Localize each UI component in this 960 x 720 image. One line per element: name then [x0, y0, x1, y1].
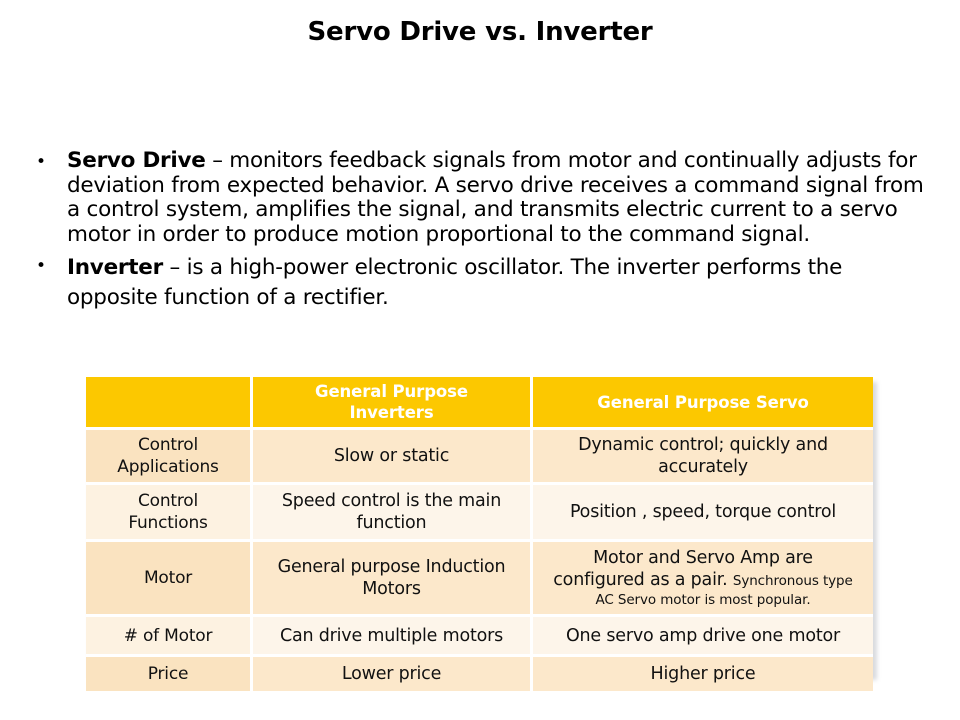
list-item: • Servo Drive – monitors feedback signal… [36, 149, 932, 247]
bullet-text: Servo Drive – monitors feedback signals … [67, 149, 932, 247]
bullet-term: Servo Drive [67, 148, 206, 173]
cell-line-1: Position , speed, torque control [533, 501, 873, 523]
bullet-list: • Servo Drive – monitors feedback signal… [36, 149, 932, 313]
cell-note-1: Synchronous type [733, 573, 853, 589]
bullet-term: Inverter [67, 255, 163, 280]
cell-servo: Higher price [533, 657, 873, 691]
table-row: Price Lower price Higher price [86, 657, 873, 691]
cell-line-2: Motors [253, 578, 530, 600]
bullet-marker-icon: • [36, 149, 67, 174]
cell-line-1: Motor and Servo Amp are [533, 547, 873, 569]
cell-line-1: Speed control is the main [253, 490, 530, 512]
cell-line-1: One servo amp drive one motor [533, 625, 873, 647]
table-row: Motor General purpose Induction Motors M… [86, 542, 873, 617]
cell-line-1: Dynamic control; quickly and [533, 434, 873, 456]
label-line-1: Control [86, 434, 250, 456]
label-line-2: Applications [86, 456, 250, 478]
page-title: Servo Drive vs. Inverter [0, 17, 960, 47]
label-line-1: Price [86, 663, 250, 685]
cell-inverter: Speed control is the main function [253, 485, 533, 542]
comparison-table-container: General Purpose Inverters General Purpos… [86, 377, 873, 691]
bullet-description: – is a high-power electronic oscillator.… [67, 255, 842, 310]
label-line-1: # of Motor [86, 625, 250, 647]
cell-line-2: function [253, 512, 530, 534]
slide-canvas: Servo Drive vs. Inverter • Servo Drive –… [0, 0, 960, 720]
table-row: # of Motor Can drive multiple motors One… [86, 617, 873, 657]
cell-inverter: General purpose Induction Motors [253, 542, 533, 617]
cell-line-1: Lower price [253, 663, 530, 685]
cell-inverter: Slow or static [253, 430, 533, 485]
label-line-1: Motor [86, 567, 250, 589]
column-header-servo: General Purpose Servo [533, 377, 873, 430]
cell-servo: One servo amp drive one motor [533, 617, 873, 657]
cell-inverter: Can drive multiple motors [253, 617, 533, 657]
table-row: Control Functions Speed control is the m… [86, 485, 873, 542]
row-label: Control Functions [86, 485, 253, 542]
label-line-1: Control [86, 490, 250, 512]
header-line-2: Inverters [253, 402, 530, 423]
table-row: Control Applications Slow or static Dyna… [86, 430, 873, 485]
header-line-1: General Purpose Servo [533, 392, 873, 413]
table-body: Control Applications Slow or static Dyna… [86, 430, 873, 691]
row-label: Price [86, 657, 253, 691]
header-line-1: General Purpose [253, 381, 530, 402]
row-label: # of Motor [86, 617, 253, 657]
table-header-row: General Purpose Inverters General Purpos… [86, 377, 873, 430]
cell-line-1: General purpose Induction [253, 556, 530, 578]
bullet-marker-icon: • [36, 253, 67, 278]
label-line-2: Functions [86, 512, 250, 534]
cell-line-1: Higher price [533, 663, 873, 685]
cell-line-2-main: configured as a pair. [553, 570, 733, 590]
table-header: General Purpose Inverters General Purpos… [86, 377, 873, 430]
cell-servo: Dynamic control; quickly and accurately [533, 430, 873, 485]
cell-line-1: Slow or static [253, 445, 530, 467]
comparison-table: General Purpose Inverters General Purpos… [86, 377, 873, 691]
cell-servo: Position , speed, torque control [533, 485, 873, 542]
list-item: • Inverter – is a high-power electronic … [36, 253, 932, 313]
cell-inverter: Lower price [253, 657, 533, 691]
column-header-inverters: General Purpose Inverters [253, 377, 533, 430]
column-header-blank [86, 377, 253, 430]
cell-line-2: accurately [533, 456, 873, 478]
cell-line-2: configured as a pair. Synchronous type [533, 569, 873, 591]
cell-line-1: Can drive multiple motors [253, 625, 530, 647]
cell-servo: Motor and Servo Amp are configured as a … [533, 542, 873, 617]
cell-note-2: AC Servo motor is most popular. [533, 591, 873, 609]
row-label: Motor [86, 542, 253, 617]
bullet-text: Inverter – is a high-power electronic os… [67, 253, 932, 313]
row-label: Control Applications [86, 430, 253, 485]
